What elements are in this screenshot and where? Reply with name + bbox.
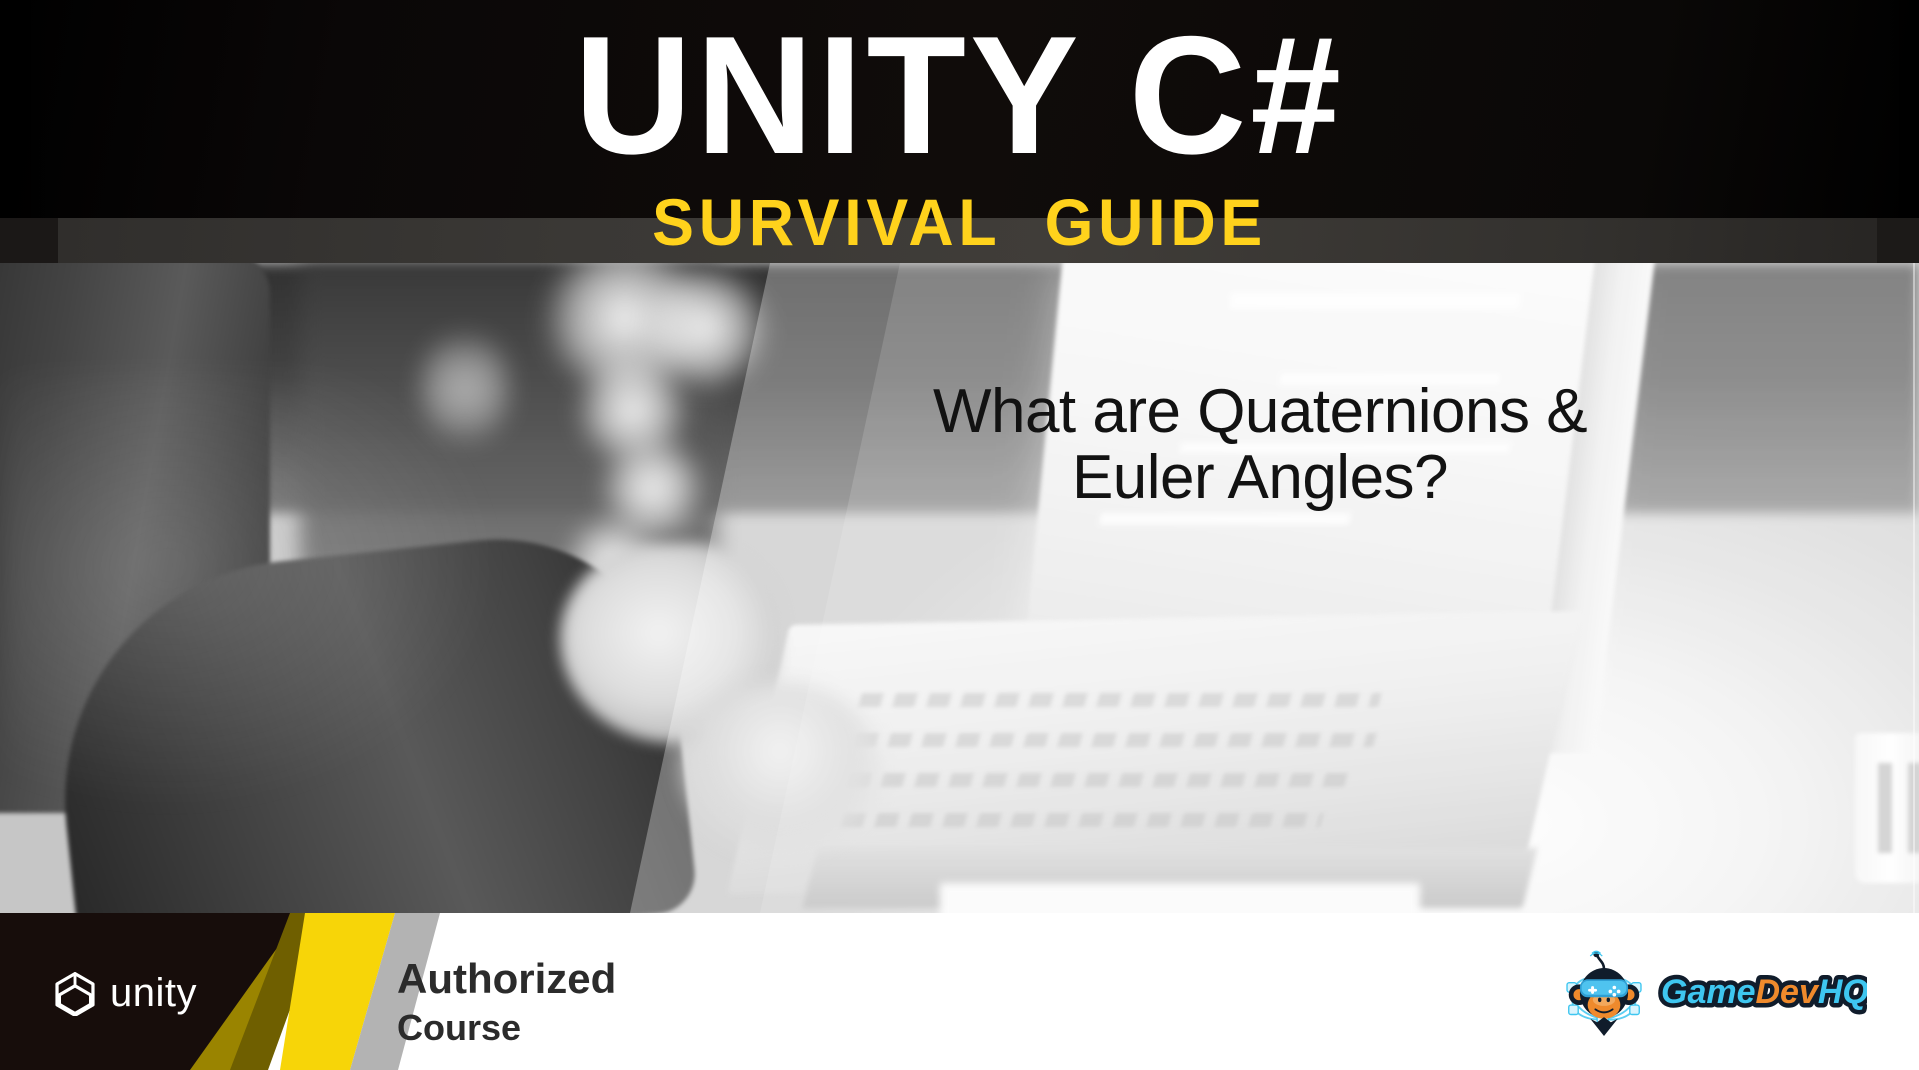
unity-cube-icon	[52, 970, 98, 1016]
subtitle-band-left-cap	[0, 218, 58, 263]
screen-content-line	[1229, 293, 1521, 309]
photo-right-edge-line	[1913, 263, 1915, 913]
unity-wordmark: unity	[110, 973, 197, 1013]
hero-headline: What are Quaternions & Euler Angles?	[640, 379, 1880, 511]
authorized-label: Authorized	[397, 953, 616, 1005]
arm-highlight	[0, 373, 560, 853]
gamedevhq-logo: GameDevHQ Game GameDevHQ GameDevHQ	[1561, 950, 1867, 1036]
keyboard-row	[853, 733, 1376, 747]
hero-photo: What are Quaternions & Euler Angles?	[0, 263, 1919, 913]
keyboard-row	[846, 773, 1359, 787]
course-label: Course	[397, 1005, 616, 1051]
gamedevhq-wordmark: GameDevHQ Game GameDevHQ GameDevHQ	[1657, 966, 1867, 1020]
brand-title: UNITY C#	[29, 6, 1890, 184]
svg-text:GameDevHQ: GameDevHQ	[1661, 973, 1867, 1011]
hero-headline-line-2: Euler Angles?	[640, 445, 1880, 511]
subtitle-band	[0, 218, 1919, 263]
gamedevhq-monkey-icon	[1561, 950, 1647, 1036]
unity-logo: unity	[52, 970, 197, 1016]
mug-stripe	[1878, 763, 1892, 853]
authorized-course-text: Authorized Course	[397, 953, 616, 1051]
video-thumbnail: UNITY C# SURVIVAL GUIDE	[0, 0, 1919, 1070]
hero-headline-line-1: What are Quaternions &	[640, 379, 1880, 445]
keyboard-row	[840, 813, 1323, 827]
desk-paper	[940, 883, 1420, 913]
person-arm	[0, 263, 660, 913]
screen-content-line	[1099, 513, 1351, 525]
hand-second	[680, 683, 880, 853]
subtitle-band-right-cap	[1877, 218, 1919, 263]
keyboard-row	[858, 693, 1381, 707]
